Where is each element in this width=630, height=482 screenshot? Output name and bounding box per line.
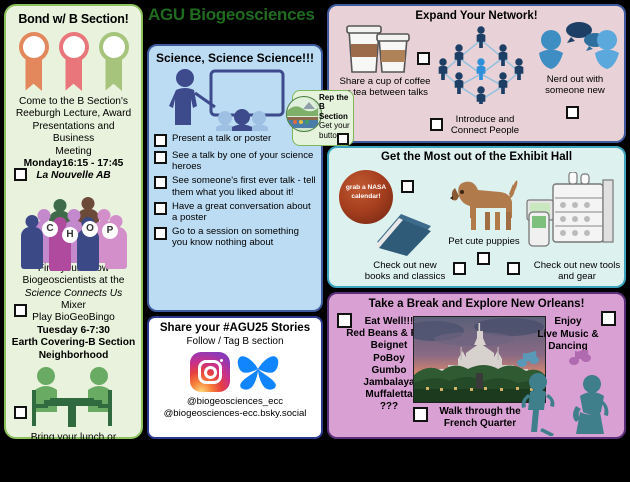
- bond-p2-mixer: Science Connects Us: [25, 288, 122, 299]
- food-2: Beignet: [371, 340, 408, 351]
- connect-caption-l2: Connect People: [451, 125, 519, 136]
- bond-title: Bond w/ B Section!: [6, 12, 141, 26]
- nola-title: Take a Break and Explore New Orleans!: [329, 298, 624, 310]
- bond-p2-place2: Neighborhood: [39, 350, 109, 361]
- sci-label-3: See someone's first ever talk - tell the…: [172, 175, 317, 197]
- bond-p1-room: La Nouvelle AB: [36, 170, 110, 181]
- checklist-item[interactable]: Go to a session on something you know no…: [154, 226, 317, 248]
- panel-new-orleans: Take a Break and Explore New Orleans! Ea…: [327, 292, 626, 439]
- handle-bluesky: @biogeosciences-ecc.bsky.social: [164, 408, 307, 419]
- chop-letter-c: C: [42, 221, 58, 237]
- bond-p1-l1: Come to the B Section's: [19, 96, 128, 107]
- music-list: Enjoy Live Music & Dancing: [526, 316, 610, 354]
- bond-p2-mixer-tail: Mixer: [61, 300, 86, 311]
- checkbox-books[interactable]: [453, 260, 466, 278]
- dog-icon: [449, 178, 521, 234]
- b-section-button-icon: [286, 96, 322, 132]
- puppies-caption: Pet cute puppies: [439, 236, 529, 247]
- chop-letter-h: H: [62, 227, 78, 243]
- repb-line1: Rep the B: [319, 93, 348, 111]
- food-0: Eat Well!!!: [365, 316, 414, 327]
- checkbox-repb[interactable]: [337, 130, 349, 148]
- checkbox-bond-lecture[interactable]: [14, 166, 27, 184]
- checkbox-coffee[interactable]: [417, 50, 430, 68]
- checkbox-sci-1[interactable]: [154, 134, 167, 147]
- bond-p1-l2: Reeburgh Lecture, Award: [16, 108, 131, 119]
- bingo-poster: AGU Biogeosciences Bond w/ B Section! Co…: [0, 0, 630, 443]
- share-subtitle: Follow / Tag B section: [149, 336, 321, 347]
- instagram-icon[interactable]: [190, 352, 230, 392]
- lab-equipment-icon: [525, 172, 617, 252]
- checklist-item[interactable]: See a talk by one of your science heroes: [154, 150, 317, 172]
- music-1: Live Music &: [537, 329, 598, 340]
- nerd-caption-l1: Nerd out with: [547, 74, 604, 85]
- nerd-caption: Nerd out with someone new: [525, 74, 625, 97]
- checklist-item[interactable]: See someone's first ever talk - tell the…: [154, 175, 317, 197]
- dancers-icon: [514, 350, 620, 436]
- bond-p1-time: Monday16:15 - 17:45: [24, 158, 124, 169]
- sci-label-4: Have a great conversation about a poster: [172, 201, 317, 223]
- books-caption-l2: books and classics: [365, 271, 446, 282]
- chop-letter-p: P: [102, 223, 118, 239]
- checkbox-tools[interactable]: [507, 260, 520, 278]
- nasa-label-l1: grab a NASA: [346, 184, 386, 191]
- bond-p1-l4: Meeting: [55, 146, 91, 157]
- lunch-table-icon: [6, 364, 141, 436]
- crowd-icon: C H O P: [6, 185, 141, 263]
- bond-p2-time: Tuesday 6-7:30: [37, 325, 110, 336]
- checkbox-bond-lunch[interactable]: [14, 404, 27, 422]
- books-caption: Check out new books and classics: [361, 260, 449, 283]
- panel-bond-with-b-section: Bond w/ B Section! Come to the B Section…: [4, 4, 143, 439]
- music-0: Enjoy: [554, 316, 581, 327]
- rep-the-b-section-badge[interactable]: Rep the B Section Get your button: [292, 90, 354, 146]
- sci-label-5: Go to a session on something you know no…: [172, 226, 317, 248]
- checkbox-sci-5[interactable]: [154, 227, 167, 240]
- science-title: Science, Science Science!!!: [149, 51, 321, 65]
- panel-science: Science, Science Science!!! Present a ta…: [147, 44, 323, 312]
- panel-exhibit-hall: Get the Most out of the Exhibit Hall gra…: [327, 146, 626, 288]
- walk-caption-l1: Walk through the: [439, 406, 520, 417]
- repb-line2: Section: [319, 112, 348, 121]
- checkbox-nasa[interactable]: [401, 178, 414, 196]
- nasa-label-l2: calendar!: [351, 193, 380, 200]
- coffee-cups-icon: [341, 24, 417, 74]
- food-7: ???: [380, 401, 398, 412]
- checkbox-sci-2[interactable]: [154, 151, 167, 164]
- exhibit-title: Get the Most out of the Exhibit Hall: [329, 151, 624, 163]
- sci-label-2: See a talk by one of your science heroes: [172, 150, 317, 172]
- checkbox-nerd[interactable]: [566, 104, 579, 122]
- bond-p3-l3: lunch spot to daily: [33, 457, 115, 468]
- tools-caption-l1: Check out new tools: [534, 260, 620, 271]
- connect-caption-l1: Introduce and: [456, 114, 515, 125]
- books-caption-l1: Check out new: [373, 260, 436, 271]
- bond-p2-l2: Biogeoscientists at the: [23, 275, 125, 286]
- food-6: Muffaletta: [365, 389, 412, 400]
- checkbox-puppies[interactable]: [477, 250, 490, 268]
- checkbox-sci-4[interactable]: [154, 202, 167, 215]
- book-icon: [373, 204, 435, 256]
- checklist-item[interactable]: Have a great conversation about a poster: [154, 201, 317, 223]
- checkbox-bond-mixer[interactable]: [14, 302, 27, 320]
- tools-caption: Check out new tools and gear: [529, 260, 625, 283]
- bond-p3-l4: BioGeoPods Hall B-1: [23, 469, 125, 480]
- repb-line3: Get your: [319, 121, 350, 130]
- handle-instagram: @biogeosciences_ecc: [187, 396, 283, 407]
- connect-caption: Introduce and Connect People: [445, 114, 525, 137]
- page-title: AGU Biogeosciences: [148, 2, 326, 28]
- checkbox-sci-3[interactable]: [154, 176, 167, 189]
- panel-expand-your-network: Expand Your Network! Share a cup of coff…: [327, 4, 626, 143]
- nasa-label: grab a NASA calendar!: [339, 184, 393, 201]
- bond-p1-l3: Presentations and Business: [32, 121, 114, 144]
- walk-caption-l2: French Quarter: [444, 418, 516, 429]
- bond-paragraph-3: Bring your lunch or an idea for a great …: [6, 432, 141, 482]
- bond-p2-place: Earth Covering-B Section: [12, 337, 135, 348]
- share-title: Share your #AGU25 Stories: [149, 322, 321, 334]
- panel-share-stories: Share your #AGU25 Stories Follow / Tag B…: [147, 316, 323, 439]
- bond-p2-l3: Play BioGeoBingo: [32, 312, 115, 323]
- chop-letter-o: O: [82, 221, 98, 237]
- bond-p3-l2: an idea for a great: [32, 445, 115, 456]
- people-network-icon: [435, 26, 527, 104]
- science-checklist: Present a talk or poster See a talk by o…: [149, 133, 321, 249]
- two-people-talking-icon: [535, 20, 621, 74]
- tools-caption-l2: and gear: [558, 271, 596, 282]
- nerd-caption-l2: someone new: [545, 85, 605, 96]
- food-5: Jambalaya: [363, 377, 414, 388]
- coffee-caption-l1: Share a cup of coffee: [339, 76, 430, 87]
- bluesky-butterfly-icon[interactable]: [236, 352, 280, 392]
- rosettes-icon: [6, 30, 141, 92]
- food-3: PoBoy: [373, 353, 405, 364]
- checkbox-connect[interactable]: [430, 116, 443, 134]
- sci-label-1: Present a talk or poster: [172, 133, 271, 144]
- food-4: Gumbo: [372, 365, 407, 376]
